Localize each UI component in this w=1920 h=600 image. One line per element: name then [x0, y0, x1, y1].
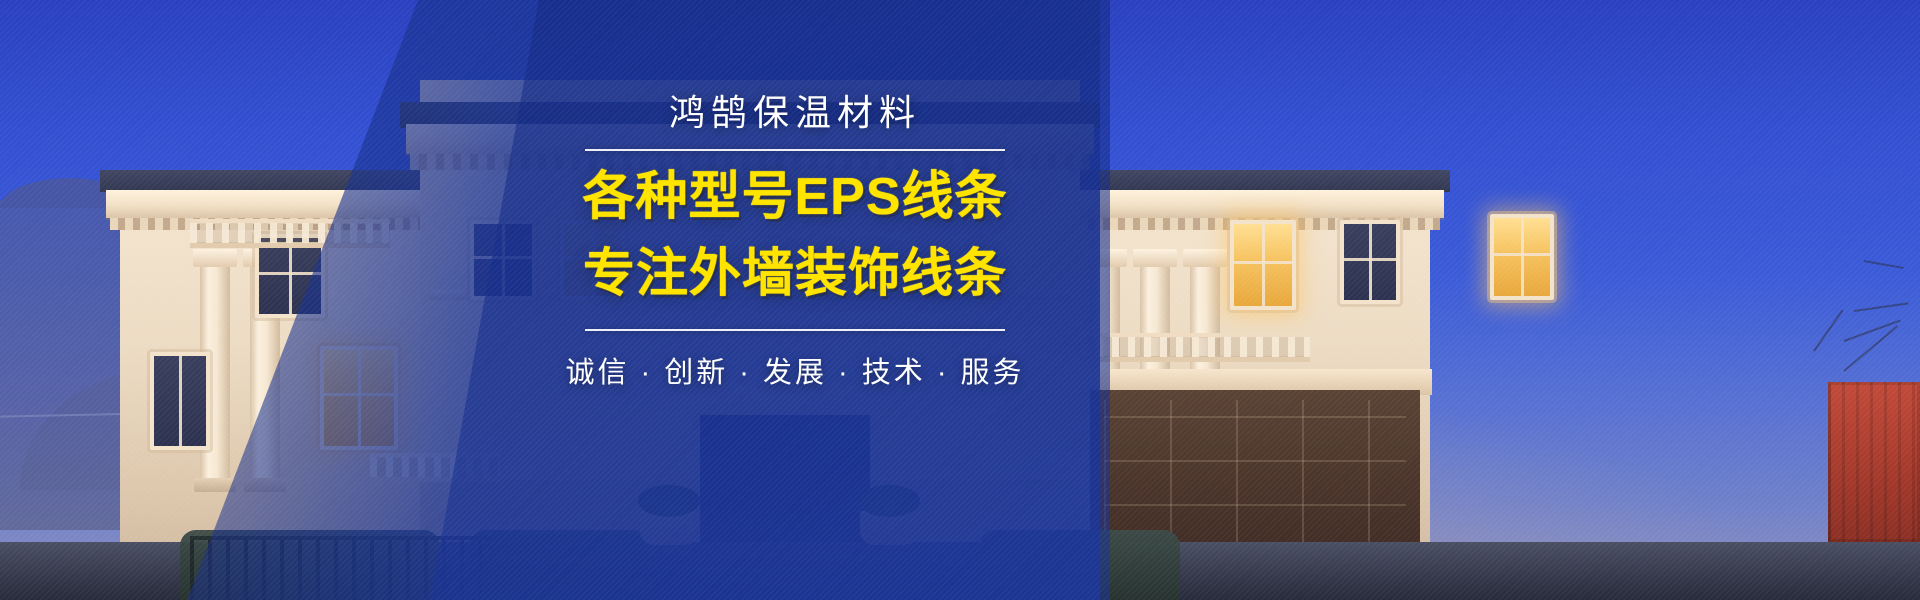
- window: [1340, 220, 1400, 304]
- brand-name: 鸿鹄保温材料: [560, 92, 1030, 133]
- hero-banner: 鸿鹄保温材料 各种型号EPS线条 专注外墙装饰线条 诚信 · 创新 · 发展 ·…: [0, 0, 1920, 600]
- banner-copy: 鸿鹄保温材料 各种型号EPS线条 专注外墙装饰线条 诚信 · 创新 · 发展 ·…: [560, 92, 1030, 391]
- headline-line-2: 专注外墙装饰线条: [560, 244, 1030, 305]
- tagline: 诚信 · 创新 · 发展 · 技术 · 服务: [560, 349, 1030, 391]
- balustrade: [1080, 328, 1310, 362]
- headline-line-1: 各种型号EPS线条: [560, 167, 1030, 228]
- window: [150, 352, 210, 450]
- divider-bottom: [585, 329, 1005, 331]
- red-container: [1828, 382, 1920, 542]
- window-lit: [1490, 214, 1554, 300]
- bare-tree: [1694, 200, 1894, 380]
- window-lit: [1230, 220, 1296, 310]
- divider-top: [585, 149, 1005, 151]
